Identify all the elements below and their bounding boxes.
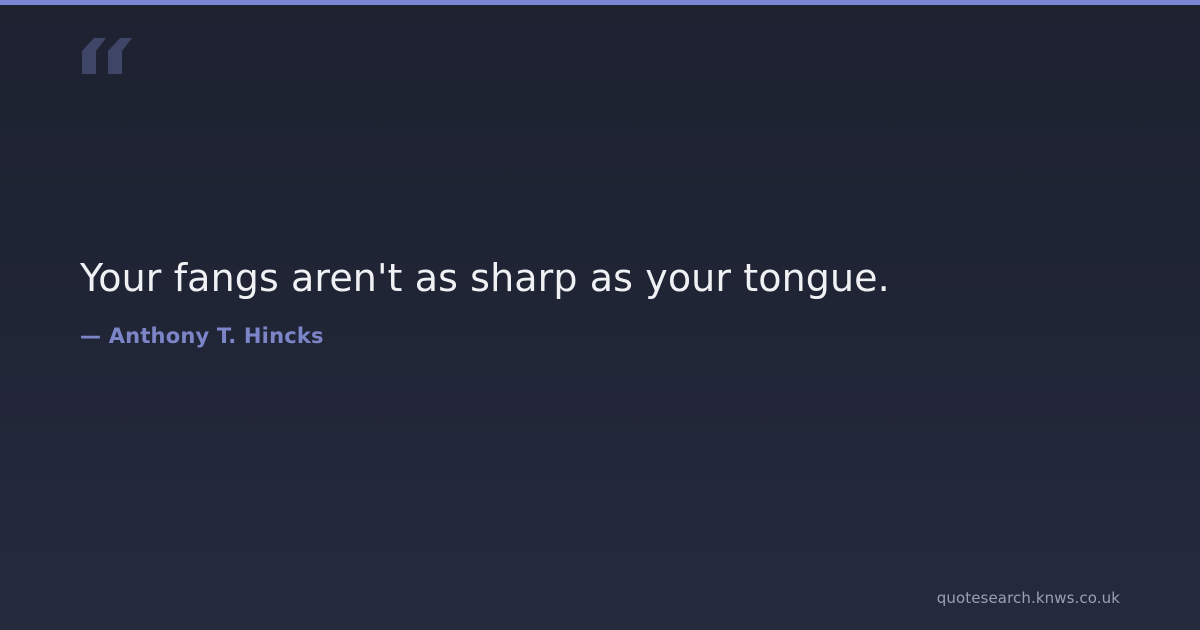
author-name: Anthony T. Hincks: [109, 324, 324, 348]
quote-text: Your fangs aren't as sharp as your tongu…: [80, 252, 1120, 304]
quote-card: Your fangs aren't as sharp as your tongu…: [0, 0, 1200, 630]
top-accent-bar: [0, 0, 1200, 5]
attribution-dash: —: [80, 324, 101, 348]
attribution-line: — Anthony T. Hincks: [80, 322, 1120, 350]
double-quote-icon: [78, 30, 138, 88]
quote-content: Your fangs aren't as sharp as your tongu…: [80, 252, 1120, 350]
site-watermark: quotesearch.knws.co.uk: [937, 588, 1120, 608]
